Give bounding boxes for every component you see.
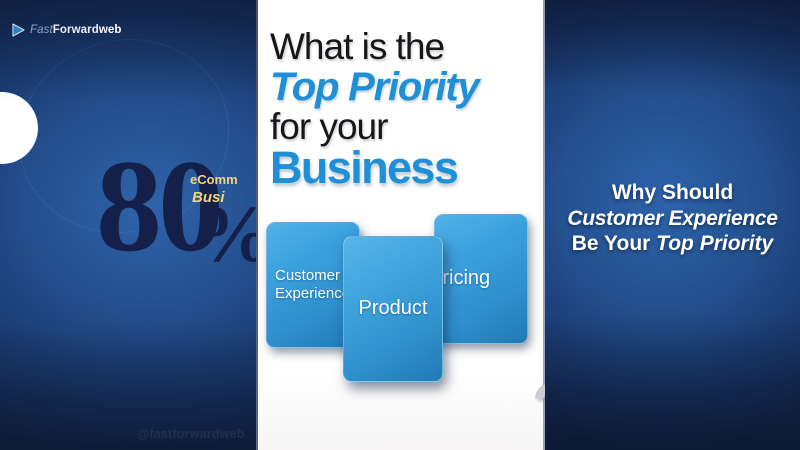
card-pricing-label: Pricing: [434, 267, 527, 291]
brand-logo-text: FastForwardweb: [30, 24, 122, 36]
card-pricing[interactable]: Pricing: [434, 214, 528, 344]
title-line-2: Top Priority: [270, 67, 532, 107]
right-headline-line-3-plain: Be Your: [572, 232, 656, 255]
left-statistic-panel: FastForwardweb 80 % eComm Busi @fastforw…: [0, 0, 256, 450]
center-panel-title: What is the Top Priority for your Busine…: [270, 28, 532, 190]
logo-word-forward: Forward: [53, 24, 99, 36]
social-handle-watermark: @fastforwardweb: [137, 427, 245, 441]
center-title-panel: What is the Top Priority for your Busine…: [256, 0, 545, 450]
card-product[interactable]: Product: [343, 236, 443, 382]
right-headline-line-3-emphasis: Top Priority: [656, 232, 773, 255]
right-panel-headline: Why Should Customer Experience Be Your T…: [545, 180, 800, 257]
play-triangle-icon: [12, 23, 25, 37]
right-headline-line-1: Why Should: [545, 180, 800, 206]
video-frame: FastForwardweb 80 % eComm Busi @fastforw…: [0, 0, 800, 450]
right-headline-line-2: Customer Experience: [545, 206, 800, 232]
stat-caption-line-1: eComm: [190, 172, 238, 187]
question-mark-icon: ?: [530, 371, 545, 441]
title-line-3: for your: [270, 108, 532, 145]
right-headline-line-3: Be Your Top Priority: [545, 231, 800, 257]
title-line-1: What is the: [270, 28, 532, 65]
card-product-label: Product: [359, 297, 428, 321]
stat-percent-symbol: %: [194, 195, 256, 275]
stat-caption-line-2: Busi: [192, 189, 225, 206]
logo-word-web: web: [99, 24, 122, 36]
right-headline-panel: ? ? Why Should Customer Experience Be Yo…: [545, 0, 800, 450]
brand-logo[interactable]: FastForwardweb: [12, 23, 122, 37]
logo-word-fast: Fast: [30, 24, 53, 36]
title-line-4: Business: [270, 145, 532, 190]
